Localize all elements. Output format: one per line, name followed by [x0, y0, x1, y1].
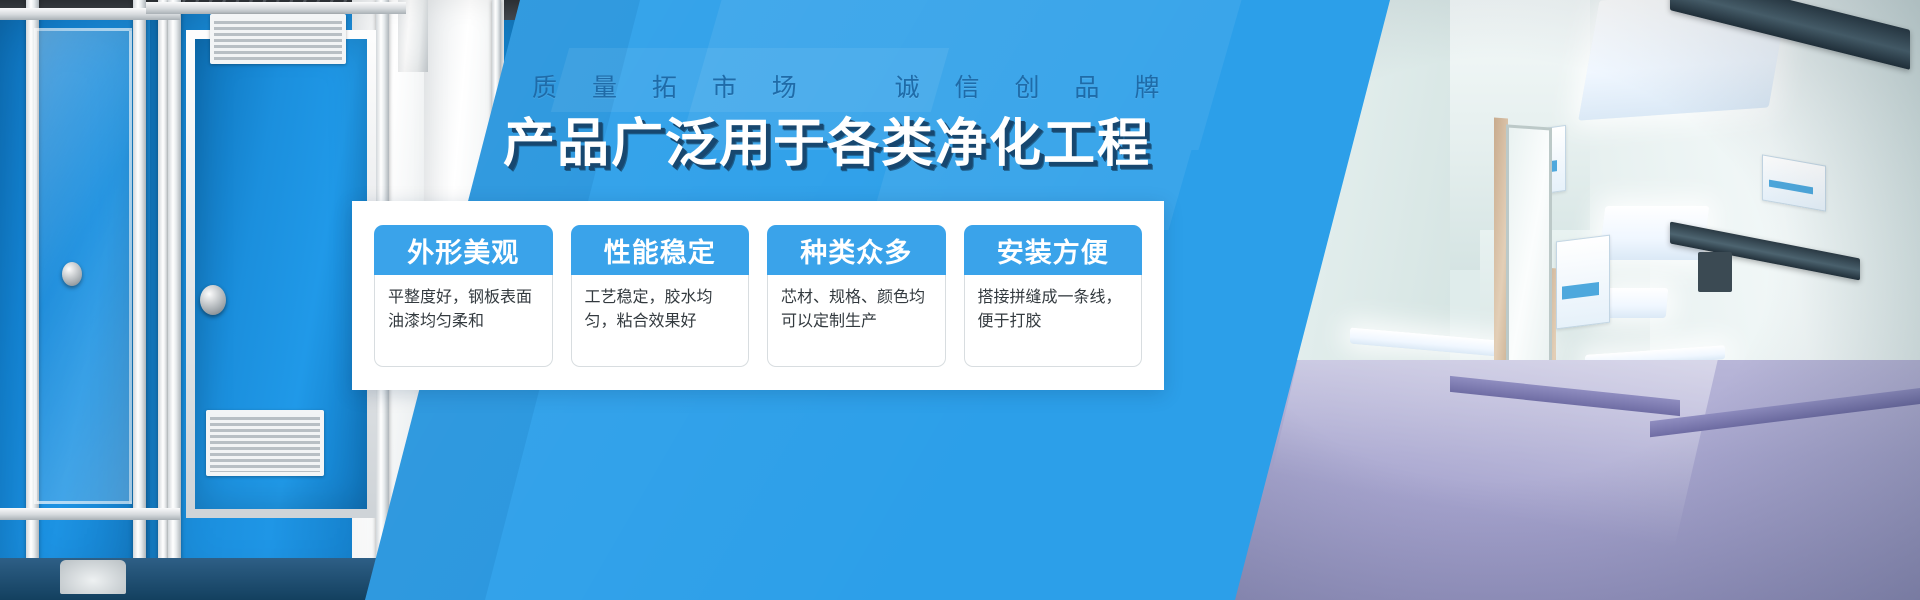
cabin-top-trim-2 — [146, 2, 406, 14]
feature-card-title: 安装方便 — [964, 225, 1143, 275]
banner-subtitle: 质 量 拓 市 场 诚 信 创 品 牌 — [532, 76, 1173, 101]
banner-headline: 产品广泛用于各类净化工程 — [503, 117, 1151, 172]
feature-panel: 外形美观 平整度好，钢板表面油漆均匀柔和 性能稳定 工艺稳定，胶水均匀，粘合效果… — [352, 201, 1164, 390]
right-corridor-photo — [1150, 0, 1920, 600]
feature-card-body: 平整度好，钢板表面油漆均匀柔和 — [374, 275, 553, 367]
ground-object — [60, 560, 126, 594]
cabin-vent-top — [210, 14, 346, 64]
feature-card-title: 外形美观 — [374, 225, 553, 275]
feature-card-title: 种类众多 — [767, 225, 946, 275]
photo-vignette — [1150, 0, 1920, 600]
feature-card[interactable]: 安装方便 搭接拼缝成一条线，便于打胶 — [964, 225, 1143, 367]
feature-card-body: 工艺稳定，胶水均匀，粘合效果好 — [571, 275, 750, 367]
feature-card[interactable]: 种类众多 芯材、规格、颜色均可以定制生产 — [767, 225, 946, 367]
feature-card-body: 芯材、规格、颜色均可以定制生产 — [767, 275, 946, 367]
cabin-bottom-trim-1 — [0, 508, 180, 520]
feature-card[interactable]: 性能稳定 工艺稳定，胶水均匀，粘合效果好 — [571, 225, 750, 367]
feature-card-list: 外形美观 平整度好，钢板表面油漆均匀柔和 性能稳定 工艺稳定，胶水均匀，粘合效果… — [352, 201, 1164, 390]
cabin-vent-door — [206, 410, 324, 476]
cabin-window-glass — [34, 28, 132, 504]
feature-card-body: 搭接拼缝成一条线，便于打胶 — [964, 275, 1143, 367]
promo-banner: 质 量 拓 市 场 诚 信 创 品 牌 产品广泛用于各类净化工程 外形美观 平整… — [0, 0, 1920, 600]
feature-card-title: 性能稳定 — [571, 225, 750, 275]
feature-card[interactable]: 外形美观 平整度好，钢板表面油漆均匀柔和 — [374, 225, 553, 367]
cabin-door-handle — [200, 285, 226, 315]
